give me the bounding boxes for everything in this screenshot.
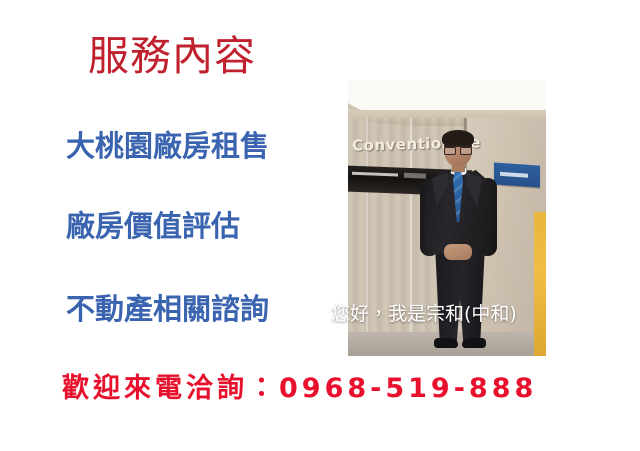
photo-caption: 您好，我是宗和(中和) [331, 304, 517, 326]
photo-counter-highlight-1 [352, 172, 398, 177]
service-item-1: 大桃園廠房租售 [66, 131, 269, 163]
service-item-2: 廠房價值評估 [66, 211, 240, 243]
person-hands [444, 244, 472, 260]
page-title: 服務內容 [88, 34, 256, 79]
slide-canvas: 服務內容 大桃園廠房租售 廠房價值評估 不動產相關諮詢 歡迎來電洽詢：0968-… [0, 0, 640, 451]
person-shoe-left [434, 338, 458, 348]
photo-accent-strip [534, 212, 546, 356]
contact-phone-line: 歡迎來電洽詢：0968-519-888 [62, 374, 537, 404]
person-glasses-icon [444, 145, 472, 154]
person-shoe-right [462, 338, 486, 348]
person-trousers [432, 252, 488, 344]
service-item-3: 不動產相關諮詢 [66, 294, 269, 326]
